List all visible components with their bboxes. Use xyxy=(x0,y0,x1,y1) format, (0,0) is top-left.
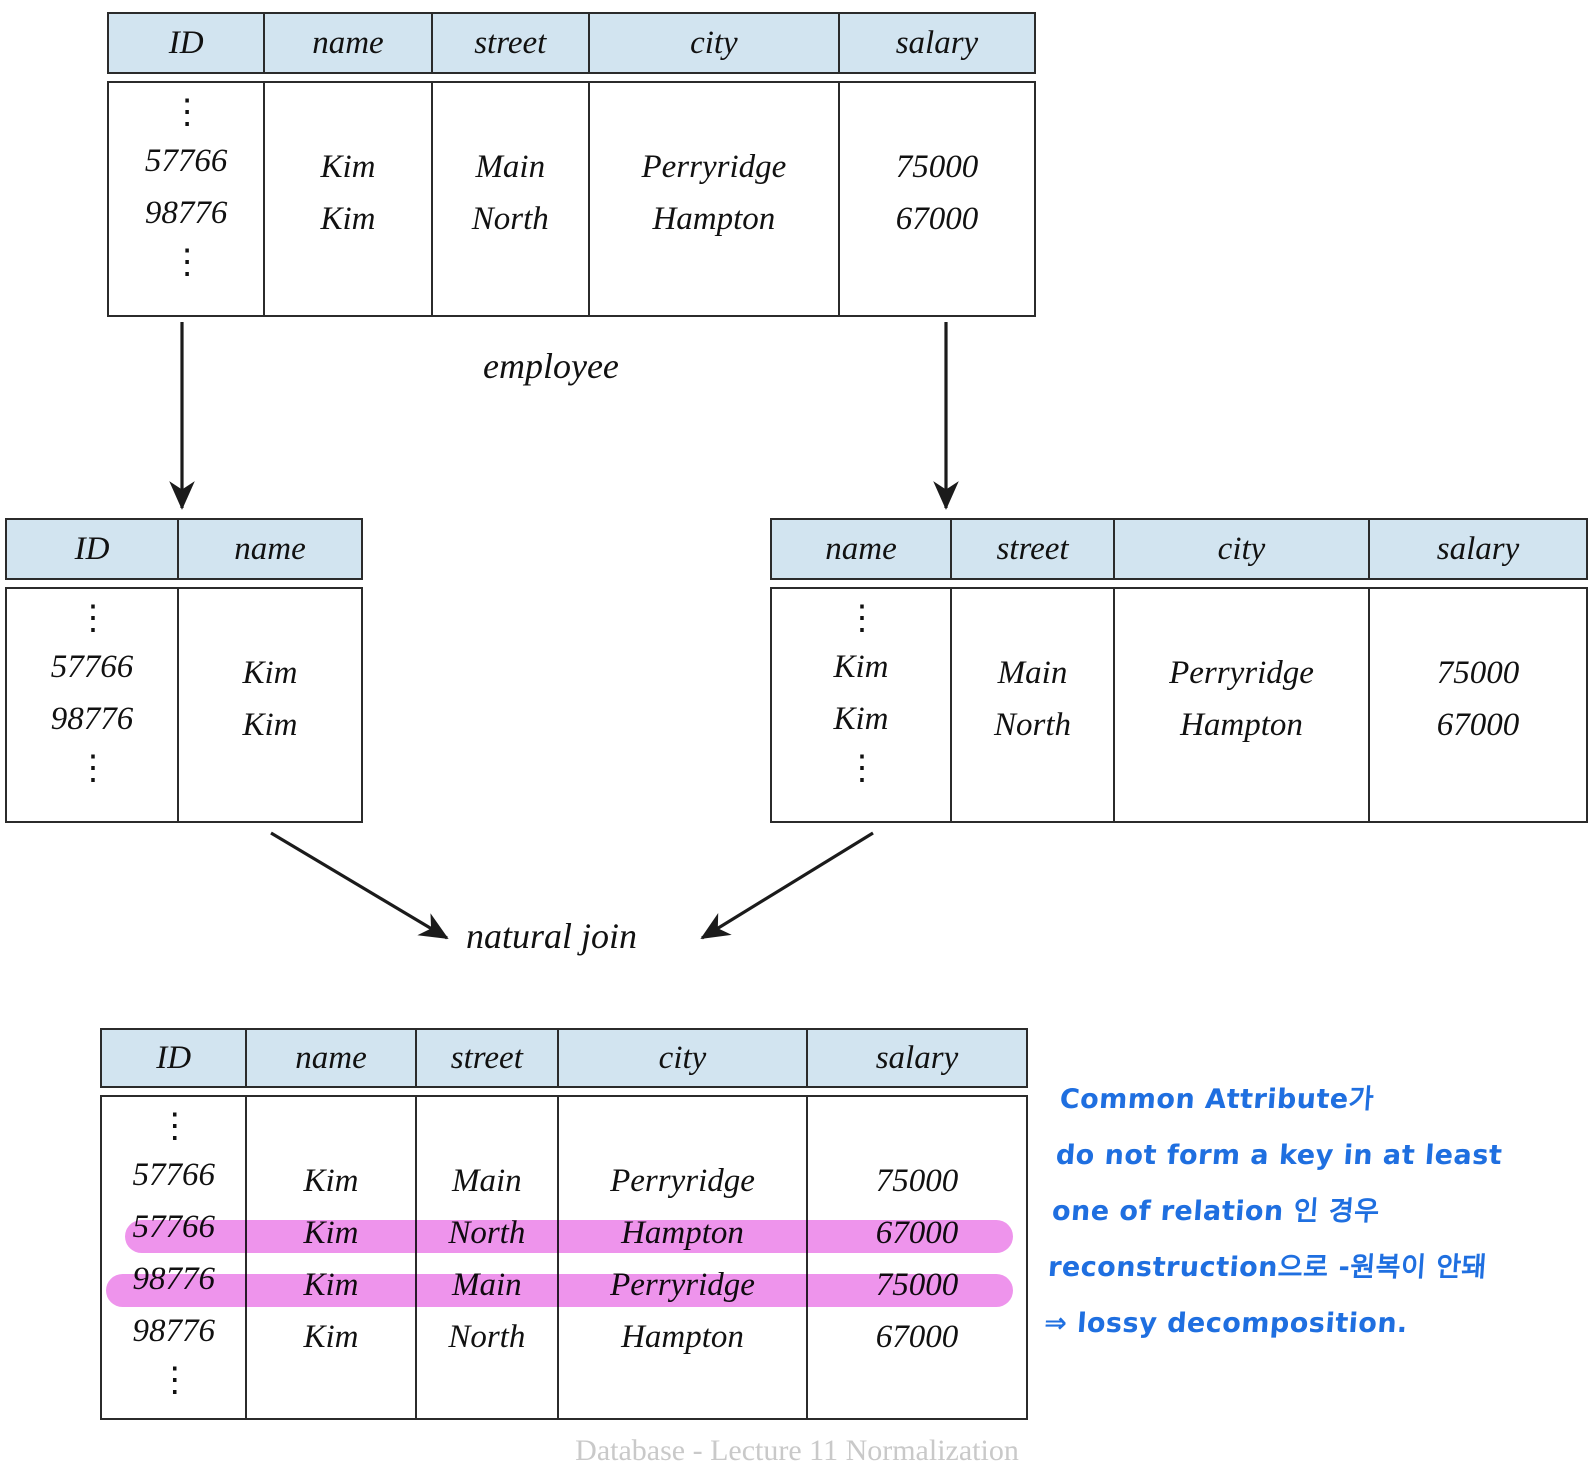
join-result-col-id: 57766 57766 98776 98776 xyxy=(102,1097,247,1418)
left-projection-body: 57766 98776 Kim Kim xyxy=(5,587,363,823)
cell-value: Main xyxy=(452,1155,522,1207)
cell-value: 98776 xyxy=(145,187,228,239)
right-projection-col-salary: 75000 67000 xyxy=(1370,589,1586,821)
ellipsis-top-icon xyxy=(844,595,878,641)
join-result-header-name: name xyxy=(247,1030,416,1086)
join-result-body: 57766 57766 98776 98776 Kim Kim Kim Kim … xyxy=(100,1095,1028,1420)
left-projection-header-name: name xyxy=(179,520,361,578)
right-projection-body: Kim Kim Main North Perryridge Hampton 75… xyxy=(770,587,1588,823)
arrow-right-projection-to-join xyxy=(702,833,873,938)
join-result-col-street: Main North Main North xyxy=(417,1097,559,1418)
left-projection-col-id: 57766 98776 xyxy=(7,589,179,821)
right-projection-table: name street city salary Kim Kim Main Nor… xyxy=(770,518,1588,823)
ellipsis-bottom-icon xyxy=(844,745,878,791)
join-result-col-city: Perryridge Hampton Perryridge Hampton xyxy=(559,1097,808,1418)
cell-value: Kim xyxy=(304,1311,359,1363)
cell-value: North xyxy=(472,193,549,245)
cell-value: 98776 xyxy=(51,693,134,745)
ellipsis-bottom-icon xyxy=(157,1357,191,1403)
employee-body: 57766 98776 Kim Kim Main North Perryridg… xyxy=(107,81,1036,317)
cell-value: Hampton xyxy=(652,193,775,245)
employee-header-city: city xyxy=(590,14,840,72)
cell-value: Kim xyxy=(320,193,375,245)
left-projection-header-row: ID name xyxy=(5,518,363,580)
employee-col-city: Perryridge Hampton xyxy=(590,83,840,315)
cell-value: Kim xyxy=(833,641,888,693)
cell-value: 98776 xyxy=(132,1305,215,1357)
join-result-header-city: city xyxy=(559,1030,808,1086)
slide-footer: Database - Lecture 11 Normalization xyxy=(0,1434,1594,1468)
handwritten-annotation: Common Attribute가 do not form a key in a… xyxy=(1042,1072,1508,1352)
join-result-header-row: ID name street city salary xyxy=(100,1028,1028,1088)
cell-value: Kim xyxy=(242,699,297,751)
cell-value: 75000 xyxy=(876,1155,959,1207)
cell-value: Perryridge xyxy=(1169,647,1314,699)
cell-value: Perryridge xyxy=(610,1155,755,1207)
right-projection-header-city: city xyxy=(1115,520,1370,578)
highlight-stroke-row-3 xyxy=(106,1274,1013,1307)
cell-value: North xyxy=(994,699,1071,751)
join-result-header-salary: salary xyxy=(808,1030,1026,1086)
ellipsis-bottom-icon xyxy=(75,745,109,791)
employee-header-id: ID xyxy=(109,14,265,72)
join-result-col-name: Kim Kim Kim Kim xyxy=(247,1097,416,1418)
cell-value: 75000 xyxy=(896,141,979,193)
right-projection-header-row: name street city salary xyxy=(770,518,1588,580)
cell-value: 57766 xyxy=(132,1149,215,1201)
annotation-line-1: Common Attribute가 xyxy=(1058,1072,1508,1128)
ellipsis-top-icon xyxy=(75,595,109,641)
cell-value: Kim xyxy=(242,647,297,699)
right-projection-header-street: street xyxy=(952,520,1115,578)
right-projection-col-city: Perryridge Hampton xyxy=(1115,589,1370,821)
cell-value: 57766 xyxy=(145,135,228,187)
cell-value: 57766 xyxy=(51,641,134,693)
cell-value: Main xyxy=(475,141,545,193)
employee-header-salary: salary xyxy=(840,14,1034,72)
cell-value: North xyxy=(448,1311,525,1363)
cell-value: Kim xyxy=(833,693,888,745)
cell-value: 67000 xyxy=(896,193,979,245)
join-result-header-street: street xyxy=(417,1030,559,1086)
annotation-line-4: reconstruction으로 -원복이 안돼 xyxy=(1046,1240,1496,1296)
cell-value: Hampton xyxy=(621,1311,744,1363)
cell-value: Kim xyxy=(304,1155,359,1207)
left-projection-header-id: ID xyxy=(7,520,179,578)
employee-header-street: street xyxy=(433,14,590,72)
right-projection-col-name: Kim Kim xyxy=(772,589,952,821)
cell-value: 67000 xyxy=(1437,699,1520,751)
employee-caption: employee xyxy=(483,345,619,387)
cell-value: Hampton xyxy=(1180,699,1303,751)
ellipsis-top-icon xyxy=(157,1103,191,1149)
join-result-col-salary: 75000 67000 75000 67000 xyxy=(808,1097,1026,1418)
ellipsis-bottom-icon xyxy=(169,239,203,285)
employee-header-name: name xyxy=(265,14,432,72)
employee-col-name: Kim Kim xyxy=(265,83,432,315)
right-projection-col-street: Main North xyxy=(952,589,1115,821)
right-projection-header-salary: salary xyxy=(1370,520,1586,578)
cell-value: Kim xyxy=(320,141,375,193)
employee-col-salary: 75000 67000 xyxy=(840,83,1034,315)
left-projection-table: ID name 57766 98776 Kim Kim xyxy=(5,518,363,823)
arrow-left-projection-to-join xyxy=(271,833,447,938)
cell-value: Perryridge xyxy=(642,141,787,193)
cell-value: 75000 xyxy=(1437,647,1520,699)
annotation-line-3: one of relation 인 경우 xyxy=(1050,1184,1500,1240)
employee-table: ID name street city salary 57766 98776 K… xyxy=(107,12,1036,317)
cell-value: Main xyxy=(998,647,1068,699)
left-projection-col-name: Kim Kim xyxy=(179,589,361,821)
annotation-line-2: do not form a key in at least xyxy=(1054,1128,1504,1184)
employee-header-row: ID name street city salary xyxy=(107,12,1036,74)
right-projection-header-name: name xyxy=(772,520,952,578)
employee-col-street: Main North xyxy=(433,83,590,315)
ellipsis-top-icon xyxy=(169,89,203,135)
employee-col-id: 57766 98776 xyxy=(109,83,265,315)
natural-join-caption: natural join xyxy=(466,915,637,957)
highlight-stroke-row-2 xyxy=(125,1220,1013,1253)
join-result-header-id: ID xyxy=(102,1030,247,1086)
annotation-line-5: ⇒ lossy decomposition. xyxy=(1042,1296,1492,1352)
cell-value: 67000 xyxy=(876,1311,959,1363)
